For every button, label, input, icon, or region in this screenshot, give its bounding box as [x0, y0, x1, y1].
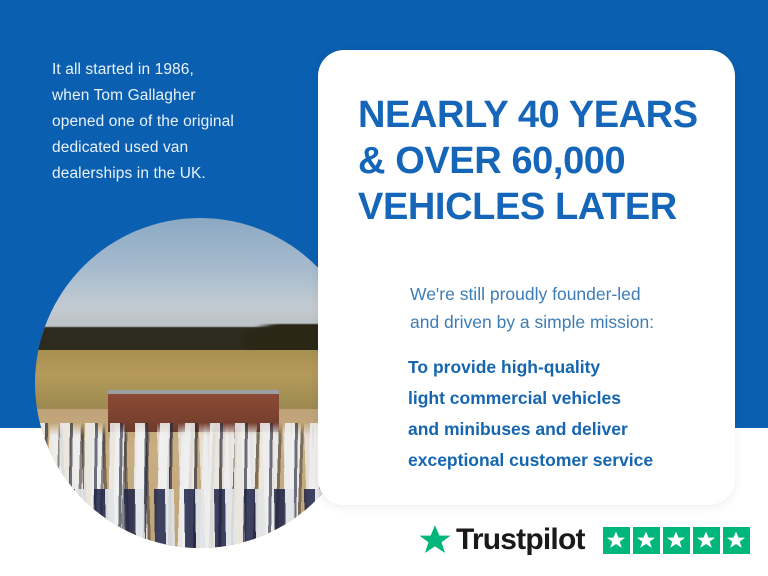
trustpilot-wordmark: Trustpilot	[456, 525, 585, 555]
star-icon	[636, 530, 656, 550]
intro-line: dealerships in the UK.	[52, 161, 302, 187]
subheading-line: and driven by a simple mission:	[410, 308, 730, 336]
trustpilot-logo[interactable]: Trustpilot	[418, 523, 585, 557]
star-icon	[666, 530, 686, 550]
headline-line: VEHICLES LATER	[358, 184, 718, 230]
mission-line: light commercial vehicles	[408, 383, 738, 414]
intro-line: dedicated used van	[52, 135, 302, 161]
subheading: We're still proudly founder-led and driv…	[410, 280, 730, 336]
content-card: NEARLY 40 YEARS & OVER 60,000 VEHICLES L…	[318, 50, 735, 505]
star-icon	[726, 530, 746, 550]
intro-paragraph: It all started in 1986, when Tom Gallagh…	[52, 57, 302, 187]
trustpilot-rating[interactable]: Trustpilot	[418, 518, 750, 562]
mission-line: and minibuses and deliver	[408, 414, 738, 445]
headline: NEARLY 40 YEARS & OVER 60,000 VEHICLES L…	[358, 92, 718, 230]
intro-line: opened one of the original	[52, 109, 302, 135]
mission-line: exceptional customer service	[408, 445, 738, 476]
rating-star-box	[603, 527, 630, 554]
photo-van-rows-front	[35, 489, 365, 548]
star-icon	[696, 530, 716, 550]
mission-line: To provide high-quality	[408, 352, 738, 383]
subheading-line: We're still proudly founder-led	[410, 280, 730, 308]
rating-star-box	[663, 527, 690, 554]
intro-line: when Tom Gallagher	[52, 83, 302, 109]
rating-star-box	[723, 527, 750, 554]
trustpilot-star-icon	[418, 523, 452, 557]
rating-star-box	[693, 527, 720, 554]
headline-line: NEARLY 40 YEARS	[358, 92, 718, 138]
dealership-photo	[35, 218, 365, 548]
trustpilot-star-rating	[603, 527, 750, 554]
intro-line: It all started in 1986,	[52, 57, 302, 83]
headline-line: & OVER 60,000	[358, 138, 718, 184]
star-icon	[606, 530, 626, 550]
rating-star-box	[633, 527, 660, 554]
marketing-banner: It all started in 1986, when Tom Gallagh…	[0, 0, 768, 576]
mission-statement: To provide high-quality light commercial…	[408, 352, 738, 476]
